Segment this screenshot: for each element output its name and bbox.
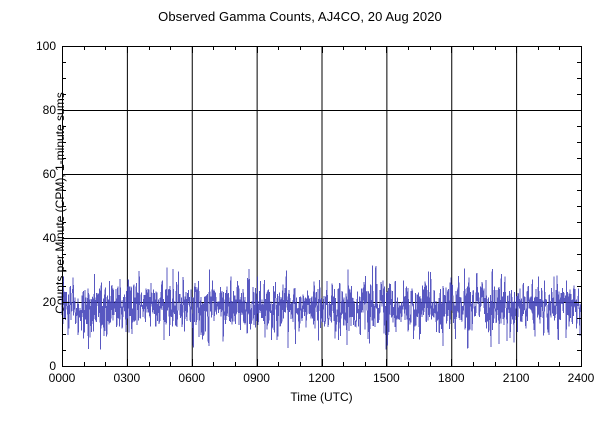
x-tick-label: 1200 bbox=[292, 372, 352, 384]
y-tick-label: 60 bbox=[6, 168, 56, 180]
x-tick-label: 0600 bbox=[162, 372, 222, 384]
y-tick-label: 40 bbox=[6, 232, 56, 244]
x-tick-label: 0300 bbox=[97, 372, 157, 384]
x-tick-label: 0900 bbox=[227, 372, 287, 384]
x-tick-label: 2400 bbox=[551, 372, 600, 384]
y-tick-label: 80 bbox=[6, 104, 56, 116]
plot-area bbox=[0, 0, 600, 428]
x-tick-label: 1800 bbox=[421, 372, 481, 384]
x-tick-label: 0000 bbox=[32, 372, 92, 384]
x-tick-label: 1500 bbox=[356, 372, 416, 384]
y-tick-label: 20 bbox=[6, 296, 56, 308]
gamma-counts-chart: Observed Gamma Counts, AJ4CO, 20 Aug 202… bbox=[0, 0, 600, 428]
x-tick-label: 2100 bbox=[486, 372, 546, 384]
y-tick-label: 100 bbox=[6, 40, 56, 52]
